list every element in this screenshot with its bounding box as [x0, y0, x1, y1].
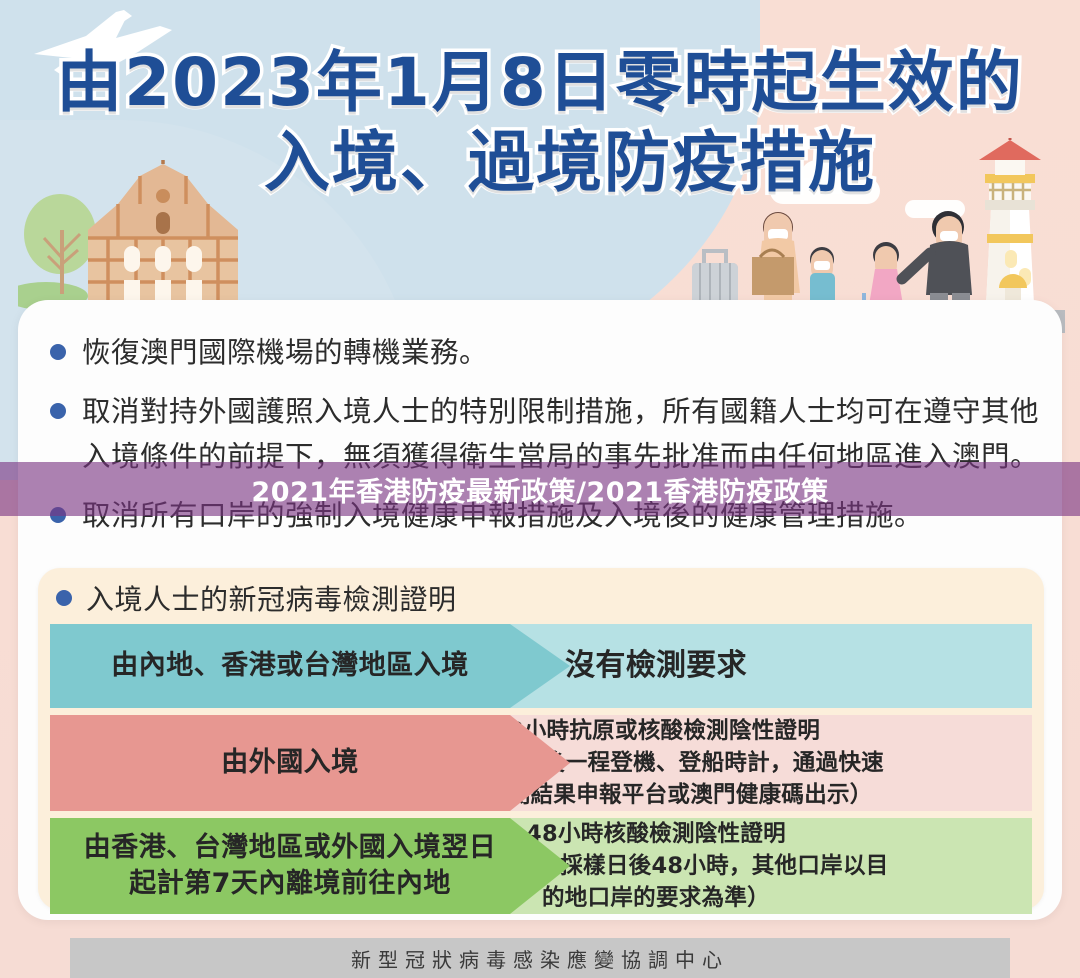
condition-cell: 由香港、台灣地區或外國入境翌日 起計第7天內離境前往內地 [50, 818, 570, 914]
footer-bar: 新型冠狀病毒感染應變協調中心 [70, 938, 1010, 978]
condition-cell: 由外國入境 [50, 715, 570, 811]
panel-heading-text: 入境人士的新冠病毒檢測證明 [86, 578, 457, 618]
condition-text: 由外國入境 [221, 745, 399, 781]
condition-text: 由內地、香港或台灣地區入境 [111, 648, 509, 684]
bullet-dot-icon [50, 403, 66, 419]
bullet-dot-icon [56, 590, 72, 606]
overlay-banner-text: 2021年香港防疫最新政策/2021香港防疫政策 [251, 470, 828, 509]
table-row: 沒有檢測要求 由內地、香港或台灣地區入境 [50, 624, 1032, 708]
bullet-item: 恢復澳門國際機場的轉機業務。 [50, 330, 1040, 375]
requirement-text: 沒有檢測要求 [565, 650, 747, 682]
overlay-watermark-banner: 2021年香港防疫最新政策/2021香港防疫政策 [0, 462, 1080, 516]
poster-title: 由2023年1月8日零時起生效的 入境、過境防疫措施 [0, 44, 1080, 204]
footer-text: 新型冠狀病毒感染應變協調中心 [351, 944, 729, 973]
table-row: 48小時核酸檢測陰性證明 （珠澳口岸為採樣日後48小時，其他口岸以目 的地口岸的… [50, 818, 1032, 914]
bullet-text: 恢復澳門國際機場的轉機業務。 [82, 330, 488, 375]
infographic-poster: 由2023年1月8日零時起生效的 入境、過境防疫措施 恢復澳門國際機場的轉機業務… [0, 0, 1080, 978]
bullet-dot-icon [50, 344, 66, 360]
test-certificate-panel: 入境人士的新冠病毒檢測證明 沒有檢測要求 由內地、香港或台灣地區入境 48小時抗… [38, 568, 1044, 910]
condition-cell: 由內地、香港或台灣地區入境 [50, 624, 570, 708]
title-line-1: 由2023年1月8日零時起生效的 [0, 44, 1080, 122]
bullet-list: 恢復澳門國際機場的轉機業務。 取消對持外國護照入境人士的特別限制措施，所有國籍人… [50, 330, 1040, 552]
condition-text: 由香港、台灣地區或外國入境翌日 起計第7天內離境前往內地 [84, 830, 537, 902]
panel-heading: 入境人士的新冠病毒檢測證明 [38, 568, 1044, 624]
title-line-2: 入境、過境防疫措施 [0, 122, 1080, 204]
table-row: 48小時抗原或核酸檢測陰性證明 （以來澳最後一程登機、登船時計，通過快速 抗原檢… [50, 715, 1032, 811]
